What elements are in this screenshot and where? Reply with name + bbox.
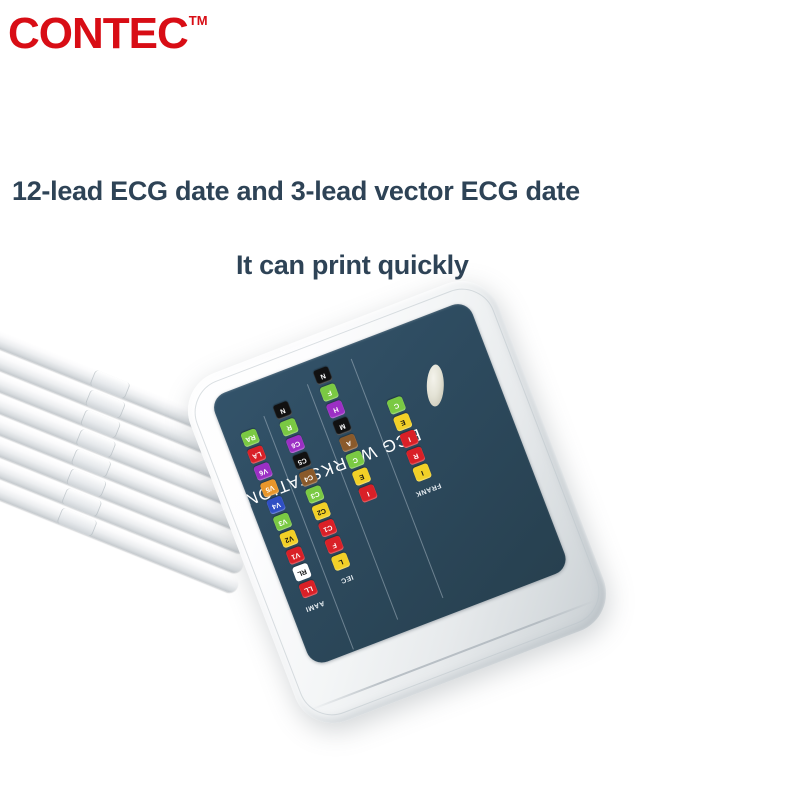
port-iec-f-1[interactable]: F	[324, 535, 344, 555]
port-aami-v1-2[interactable]: V1	[285, 546, 305, 566]
port-extra-a-3[interactable]: A	[338, 433, 358, 453]
headline-secondary: It can print quickly	[236, 250, 469, 281]
port-iec-n-9[interactable]: N	[272, 401, 292, 421]
product-banner: CONTEC TM 12-lead ECG date and 3-lead ve…	[0, 0, 800, 800]
port-group-label-aami: AAMI	[304, 599, 325, 613]
port-extra-h-5[interactable]: H	[326, 399, 346, 419]
port-frank-i-0[interactable]: I	[411, 463, 431, 483]
oval-indicator-icon	[426, 364, 444, 406]
port-group-label-frank: FRANK	[414, 481, 442, 497]
port-frank-e-3[interactable]: E	[392, 412, 412, 432]
trademark-symbol: TM	[189, 14, 208, 27]
port-iec-c5-6[interactable]: C5	[292, 451, 312, 471]
port-extra-e-1[interactable]: E	[351, 467, 371, 487]
port-group-label-iec: IEC	[340, 573, 355, 584]
port-frank-r-1[interactable]: R	[405, 446, 425, 466]
port-iec-r-8[interactable]: R	[279, 417, 299, 437]
port-iec-c1-2[interactable]: C1	[318, 518, 338, 538]
port-iec-c6-7[interactable]: C6	[285, 434, 305, 454]
port-extra-n-7[interactable]: N	[313, 366, 333, 386]
headline-primary: 12-lead ECG date and 3-lead vector ECG d…	[12, 176, 580, 207]
ecg-workstation-device: ECG WORKSTATION AAMILLRLV1V2V3V4V5V6LARA…	[176, 269, 617, 735]
port-aami-v4-5[interactable]: V4	[266, 495, 286, 515]
port-extra-i-0[interactable]: I	[358, 483, 378, 503]
port-iec-c3-4[interactable]: C3	[305, 485, 325, 505]
port-aami-ll-0[interactable]: LL	[298, 579, 318, 599]
port-iec-l-0[interactable]: L	[330, 552, 350, 572]
port-extra-m-4[interactable]: M	[332, 416, 352, 436]
port-aami-la-8[interactable]: LA	[246, 445, 266, 465]
product-image: ECG WORKSTATION AAMILLRLV1V2V3V4V5V6LARA…	[0, 320, 800, 800]
port-frank-i-2[interactable]: I	[399, 429, 419, 449]
port-aami-rl-1[interactable]: RL	[292, 562, 312, 582]
port-aami-ra-9[interactable]: RA	[240, 428, 260, 448]
contec-logo: CONTEC TM	[8, 12, 208, 56]
port-iec-c2-3[interactable]: C2	[311, 501, 331, 521]
port-aami-v3-4[interactable]: V3	[272, 512, 292, 532]
port-frank-c-4[interactable]: C	[386, 396, 406, 416]
port-extra-f-6[interactable]: F	[319, 383, 339, 403]
port-aami-v6-7[interactable]: V6	[253, 462, 273, 482]
port-aami-v5-6[interactable]: V5	[259, 478, 279, 498]
brand-wordmark: CONTEC	[8, 12, 188, 56]
port-aami-v2-3[interactable]: V2	[279, 529, 299, 549]
